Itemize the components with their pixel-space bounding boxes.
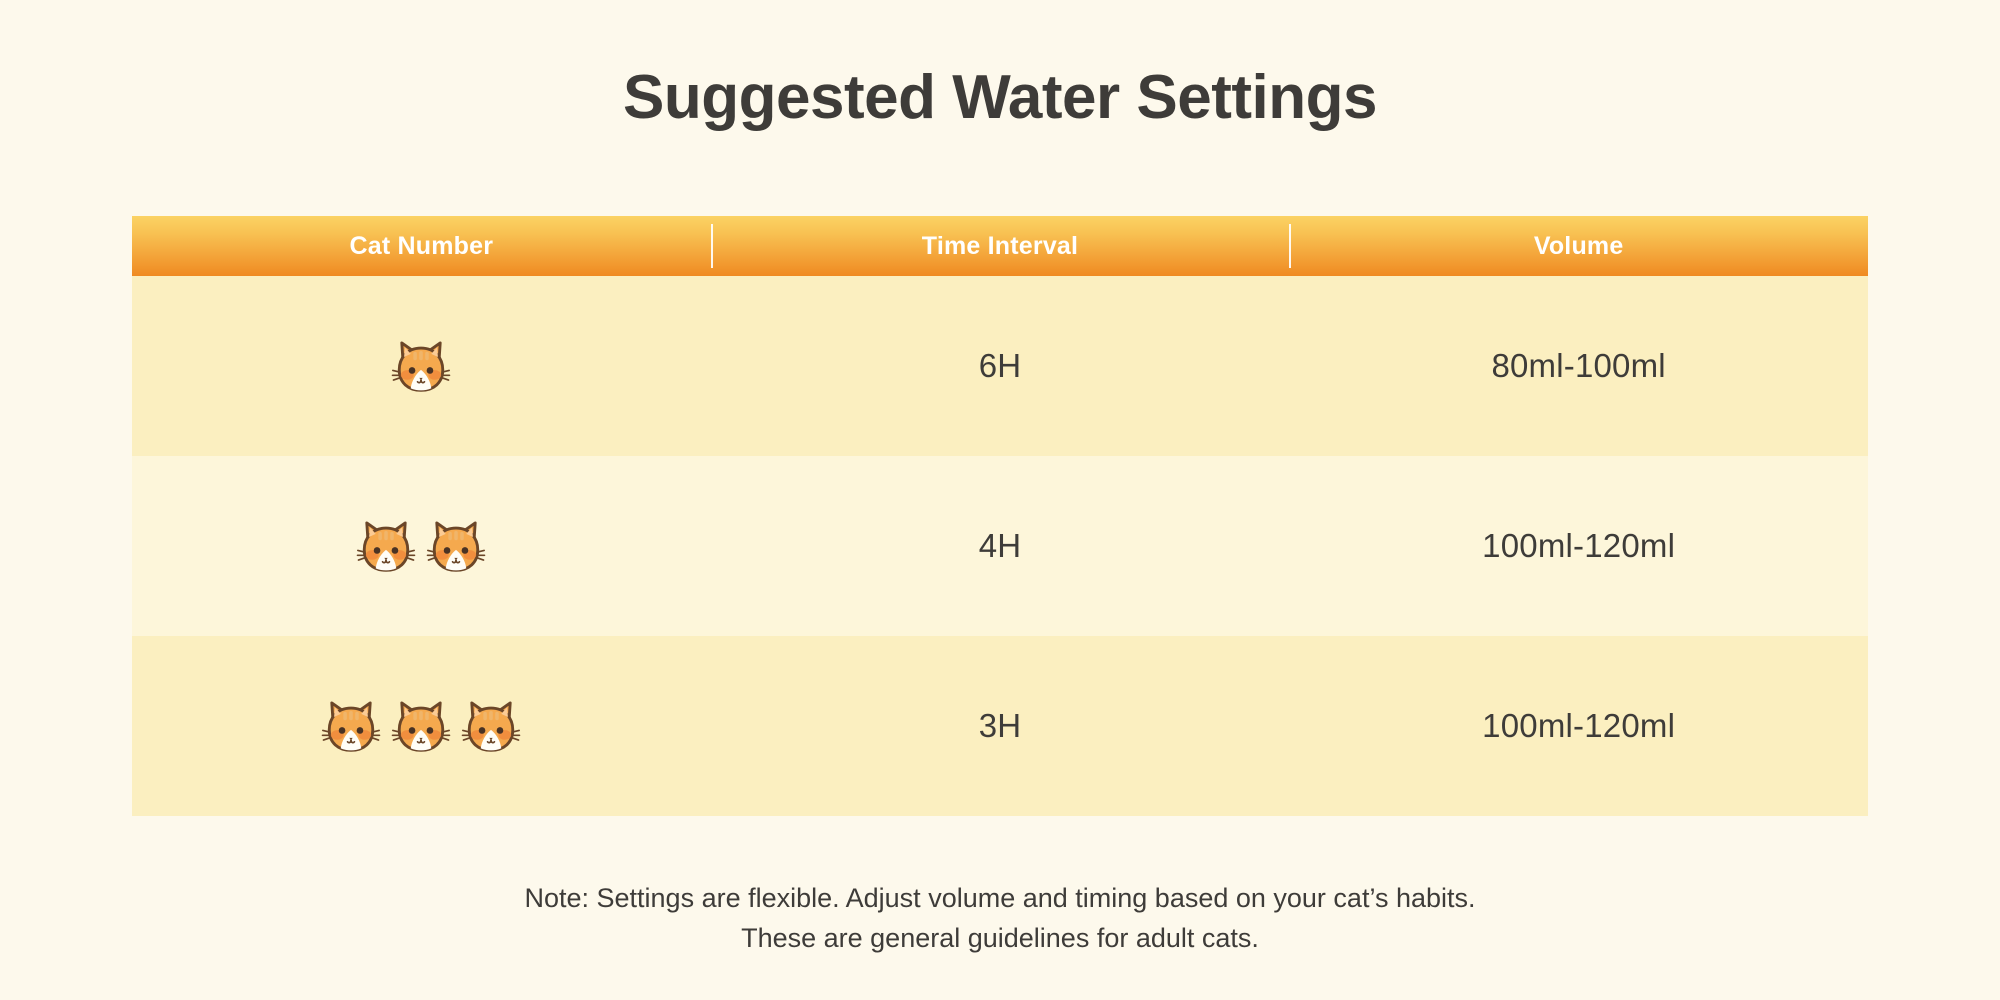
suggested-water-settings-page: Suggested Water Settings Cat Number Time…: [0, 0, 2000, 1000]
cat-count-cell: [132, 334, 711, 398]
cat-count-cell: [132, 694, 711, 758]
volume-cell: 100ml-120ml: [1289, 527, 1868, 565]
volume-cell: 100ml-120ml: [1289, 707, 1868, 745]
cat-face-icon: [389, 694, 453, 758]
column-header-cat-number: Cat Number: [132, 216, 711, 276]
cat-face-icon: [459, 694, 523, 758]
time-interval-cell: 6H: [711, 347, 1290, 385]
footer-note: Note: Settings are flexible. Adjust volu…: [0, 878, 2000, 958]
table-header-row: Cat Number Time Interval Volume: [132, 216, 1868, 276]
cat-count-cell: [132, 514, 711, 578]
column-header-volume: Volume: [1289, 216, 1868, 276]
column-header-label: Time Interval: [922, 232, 1078, 261]
page-title: Suggested Water Settings: [0, 62, 2000, 133]
cat-face-icon: [424, 514, 488, 578]
table-row: 3H 100ml-120ml: [132, 636, 1868, 816]
column-header-label: Cat Number: [349, 232, 493, 261]
table-row: 6H 80ml-100ml: [132, 276, 1868, 456]
cat-face-icon: [354, 514, 418, 578]
footer-note-line-2: These are general guidelines for adult c…: [0, 918, 2000, 958]
time-interval-cell: 4H: [711, 527, 1290, 565]
volume-cell: 80ml-100ml: [1289, 347, 1868, 385]
column-header-label: Volume: [1534, 232, 1624, 261]
table-row: 4H 100ml-120ml: [132, 456, 1868, 636]
settings-table: Cat Number Time Interval Volume: [132, 216, 1868, 816]
column-header-time-interval: Time Interval: [711, 216, 1290, 276]
time-interval-cell: 3H: [711, 707, 1290, 745]
cat-face-icon: [319, 694, 383, 758]
cat-face-icon: [389, 334, 453, 398]
footer-note-line-1: Note: Settings are flexible. Adjust volu…: [0, 878, 2000, 918]
